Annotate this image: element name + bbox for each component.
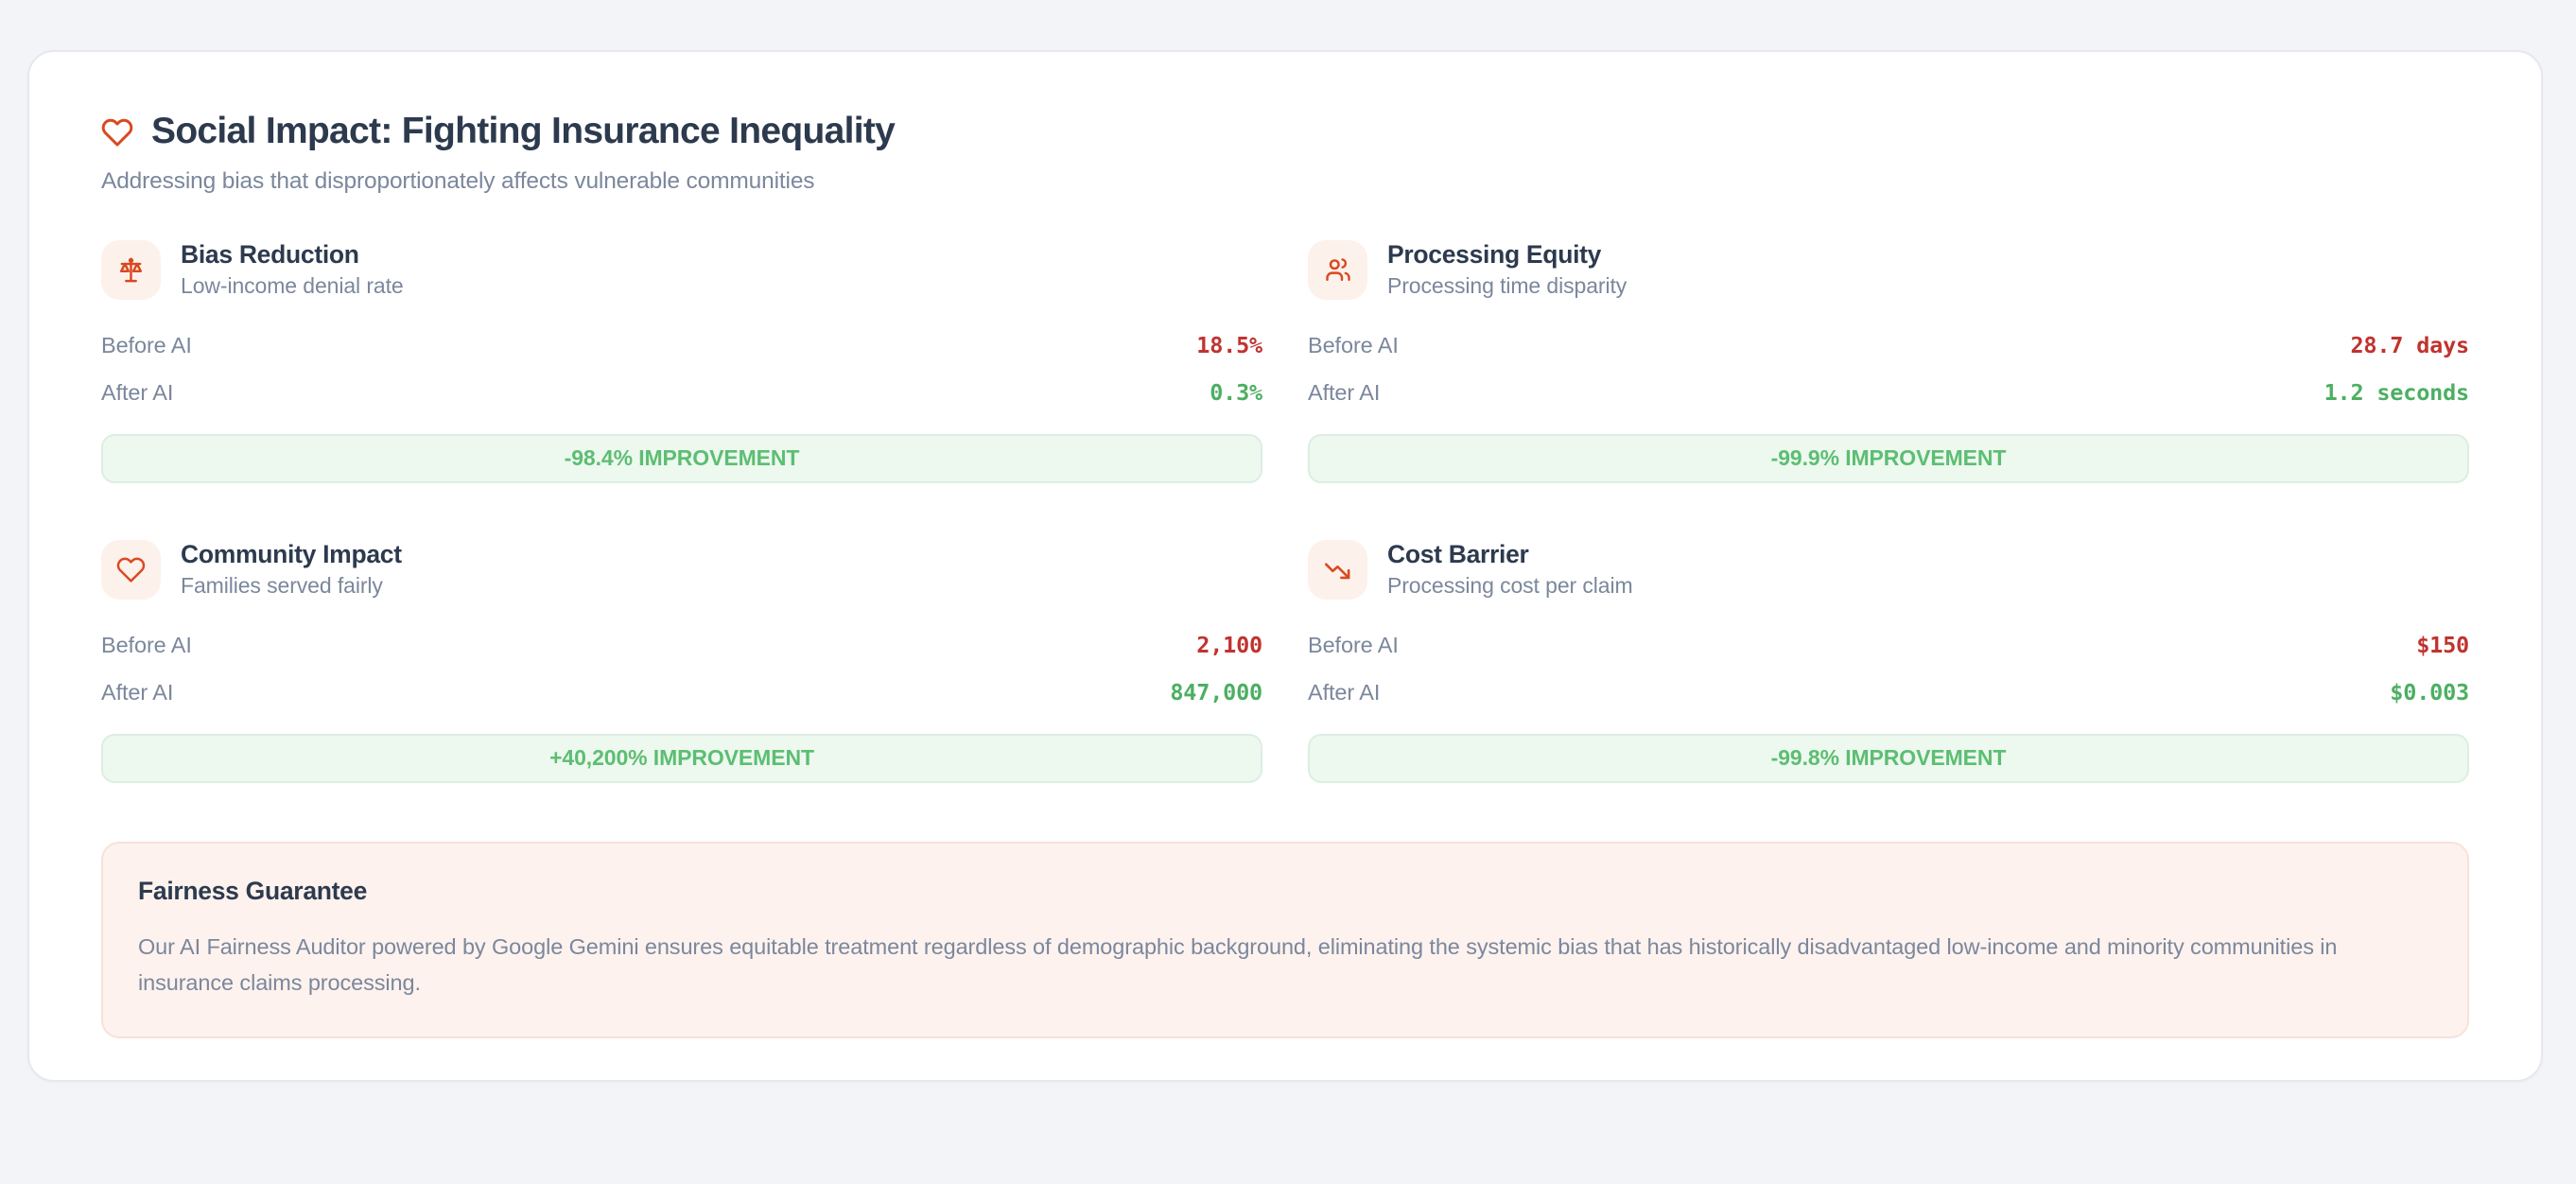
- metric-description: Families served fairly: [181, 573, 402, 600]
- metric-label: Cost Barrier: [1387, 540, 1633, 568]
- metric-description: Processing cost per claim: [1387, 573, 1633, 600]
- page-root: Social Impact: Fighting Insurance Inequa…: [0, 0, 2576, 1184]
- metric-value-rows: Before AI 28.7 days After AI 1.2 seconds: [1308, 324, 2469, 413]
- metric-title-group: Bias Reduction Low-income denial rate: [181, 240, 404, 300]
- row-value-before: 2,100: [1196, 632, 1262, 658]
- metric-card-processing-equity: Processing Equity Processing time dispar…: [1308, 240, 2469, 493]
- trending-down-icon: [1323, 555, 1352, 584]
- metric-icon-tile: [1308, 240, 1367, 300]
- improvement-badge: -99.8% IMPROVEMENT: [1308, 734, 2469, 783]
- metric-description: Low-income denial rate: [181, 273, 404, 300]
- row-key-before: Before AI: [1308, 633, 1399, 658]
- metric-label: Bias Reduction: [181, 240, 404, 269]
- metric-icon-tile: [101, 540, 161, 600]
- metric-title-group: Cost Barrier Processing cost per claim: [1387, 540, 1633, 600]
- page-subtitle: Addressing bias that disproportionately …: [101, 168, 2469, 195]
- metric-header: Bias Reduction Low-income denial rate: [101, 240, 1262, 300]
- improvement-badge: -99.9% IMPROVEMENT: [1308, 434, 2469, 483]
- scales-icon: [116, 255, 146, 285]
- users-icon: [1323, 255, 1352, 285]
- social-impact-panel: Social Impact: Fighting Insurance Inequa…: [27, 50, 2543, 1082]
- improvement-badge: -98.4% IMPROVEMENT: [101, 434, 1262, 483]
- heart-icon: [116, 555, 146, 584]
- metric-description: Processing time disparity: [1387, 273, 1627, 300]
- fairness-text: Our AI Fairness Auditor powered by Googl…: [138, 929, 2408, 1001]
- heart-icon: [101, 116, 133, 148]
- row-value-after: 0.3%: [1210, 379, 1262, 406]
- metric-card-bias-reduction: Bias Reduction Low-income denial rate Be…: [101, 240, 1262, 493]
- metric-title-group: Community Impact Families served fairly: [181, 540, 402, 600]
- row-key-before: Before AI: [101, 633, 192, 658]
- fairness-guarantee-callout: Fairness Guarantee Our AI Fairness Audit…: [101, 842, 2469, 1038]
- row-value-after: 847,000: [1170, 679, 1262, 705]
- metric-value-rows: Before AI 2,100 After AI 847,000: [101, 624, 1262, 713]
- row-key-before: Before AI: [101, 333, 192, 358]
- metric-value-rows: Before AI $150 After AI $0.003: [1308, 624, 2469, 713]
- row-value-before: 18.5%: [1196, 332, 1262, 358]
- row-key-after: After AI: [1308, 680, 1380, 705]
- metric-header: Cost Barrier Processing cost per claim: [1308, 540, 2469, 600]
- row-value-before: 28.7 days: [2350, 332, 2469, 358]
- metric-header: Community Impact Families served fairly: [101, 540, 1262, 600]
- metric-row-before: Before AI 2,100: [101, 624, 1262, 666]
- metric-label: Processing Equity: [1387, 240, 1627, 269]
- metric-card-community-impact: Community Impact Families served fairly …: [101, 540, 1262, 792]
- metric-header: Processing Equity Processing time dispar…: [1308, 240, 2469, 300]
- panel-header: Social Impact: Fighting Insurance Inequa…: [73, 90, 2498, 195]
- row-value-after: $0.003: [2390, 679, 2469, 705]
- row-value-after: 1.2 seconds: [2324, 379, 2469, 406]
- metric-row-after: After AI $0.003: [1308, 671, 2469, 713]
- row-value-before: $150: [2416, 632, 2469, 658]
- improvement-badge: +40,200% IMPROVEMENT: [101, 734, 1262, 783]
- metric-row-after: After AI 0.3%: [101, 372, 1262, 413]
- fairness-title: Fairness Guarantee: [138, 877, 2432, 906]
- row-key-before: Before AI: [1308, 333, 1399, 358]
- row-key-after: After AI: [101, 380, 173, 406]
- page-title: Social Impact: Fighting Insurance Inequa…: [151, 111, 895, 152]
- metric-icon-tile: [101, 240, 161, 300]
- metric-row-before: Before AI 18.5%: [101, 324, 1262, 366]
- metric-row-after: After AI 1.2 seconds: [1308, 372, 2469, 413]
- metrics-grid: Bias Reduction Low-income denial rate Be…: [73, 240, 2498, 792]
- title-row: Social Impact: Fighting Insurance Inequa…: [101, 111, 2469, 152]
- row-key-after: After AI: [1308, 380, 1380, 406]
- metric-card-cost-barrier: Cost Barrier Processing cost per claim B…: [1308, 540, 2469, 792]
- metric-title-group: Processing Equity Processing time dispar…: [1387, 240, 1627, 300]
- row-key-after: After AI: [101, 680, 173, 705]
- metric-icon-tile: [1308, 540, 1367, 600]
- metric-label: Community Impact: [181, 540, 402, 568]
- metric-row-before: Before AI $150: [1308, 624, 2469, 666]
- metric-row-after: After AI 847,000: [101, 671, 1262, 713]
- metric-value-rows: Before AI 18.5% After AI 0.3%: [101, 324, 1262, 413]
- metric-row-before: Before AI 28.7 days: [1308, 324, 2469, 366]
